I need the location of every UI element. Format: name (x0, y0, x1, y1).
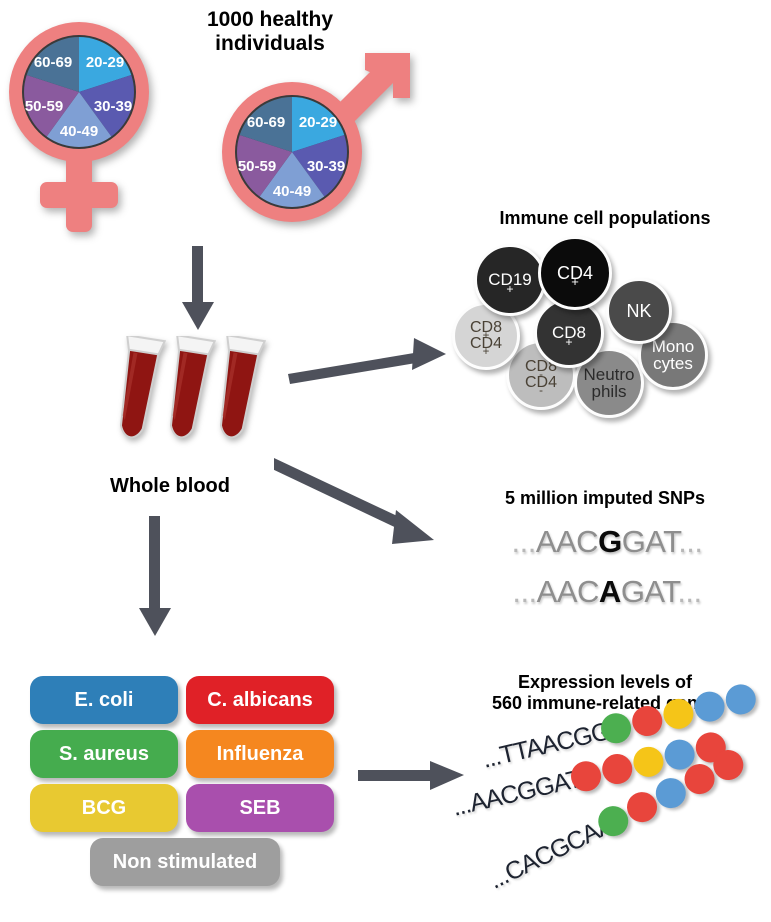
pie-label-30-39: 30-39 (307, 158, 345, 175)
pie-label-60-69: 60-69 (247, 114, 285, 131)
snp2-highlight: A (599, 574, 621, 609)
expression-bead-red (599, 751, 635, 787)
pie-label-50-59: 50-59 (25, 98, 63, 115)
immune-cell-cluster: CD19+CD4+NKCD8+CD8+CD4+CD8-CD4-Neutrophi… (450, 236, 760, 426)
stimulus-bcg[interactable]: BCG (30, 784, 178, 832)
snp-allele-row-1: ...AACGGAT... (452, 524, 762, 560)
female-symbol-with-age-pie: 20-29 30-39 40-49 50-59 60-69 (8, 14, 188, 244)
expression-strands: ...TTAACGG...AACGGAT...CACGCAA (455, 730, 771, 915)
whole-blood-label: Whole blood (60, 475, 280, 498)
stimulus-label: E. coli (75, 689, 134, 712)
arrow-blood-to-snps (274, 452, 450, 552)
expression-bead-blue (692, 689, 728, 725)
stimulus-c-albicans[interactable]: C. albicans (186, 676, 334, 724)
expression-sequence-text: ...AACGGAT (450, 765, 584, 823)
snp1-suffix: ... (678, 524, 702, 559)
immune-cell-label: CD8+ (552, 324, 586, 341)
immune-cell-label: CD8+CD4+ (470, 320, 502, 353)
immune-cell-cd19[interactable]: CD19+ (474, 244, 546, 316)
snp2-right: GAT (621, 574, 678, 609)
pie-label-30-39: 30-39 (94, 98, 132, 115)
stimuli-panel: E. coliC. albicansS. aureusInfluenzaBCGS… (30, 676, 350, 896)
immune-cell-label: Neutrophils (583, 366, 634, 401)
stimulus-label: Non stimulated (113, 851, 257, 874)
snp-allele-row-2: ...AACAGAT... (452, 574, 762, 610)
immune-populations-title: Immune cell populations (450, 208, 760, 229)
stimulus-influenza[interactable]: Influenza (186, 730, 334, 778)
whole-blood-tubes (108, 336, 268, 466)
immune-cell-nk[interactable]: NK (606, 278, 672, 344)
snp2-suffix: ... (677, 574, 701, 609)
snp1-prefix: ... (511, 524, 535, 559)
stimulus-label: BCG (82, 797, 126, 820)
pie-label-20-29: 20-29 (86, 54, 124, 71)
stimulus-seb[interactable]: SEB (186, 784, 334, 832)
pie-label-60-69: 60-69 (34, 54, 72, 71)
immune-cell-label: Monocytes (652, 338, 695, 373)
expression-bead-yellow (630, 744, 666, 780)
immune-cell-label: CD19+ (488, 271, 531, 288)
immune-cell-label: NK (626, 302, 651, 320)
arrow-blood-to-stimuli (135, 516, 181, 638)
diagram-canvas: 1000 healthy individuals 20-29 30-39 40-… (0, 0, 771, 922)
pie-label-40-49: 40-49 (60, 123, 98, 140)
arrow-blood-to-immune (288, 330, 448, 390)
stimulus-label: SEB (239, 797, 280, 820)
stimulus-label: S. aureus (59, 743, 149, 766)
expression-bead-blue (723, 681, 759, 717)
pie-label-40-49: 40-49 (273, 183, 311, 200)
male-symbol-with-age-pie: 20-29 30-39 40-49 50-59 60-69 (205, 48, 425, 238)
snp2-left: AAC (537, 574, 599, 609)
stimulus-e-coli[interactable]: E. coli (30, 676, 178, 724)
arrow-cohort-to-blood (176, 246, 220, 332)
snp1-highlight: G (598, 524, 622, 559)
stimulus-non-stimulated[interactable]: Non stimulated (90, 838, 280, 886)
stimulus-label: Influenza (217, 743, 304, 766)
snp-title: 5 million imputed SNPs (450, 488, 760, 509)
snp-sequences: ...AACGGAT... ...AACAGAT... (452, 524, 762, 620)
arrow-stimuli-to-expression (358, 756, 468, 796)
snp1-right: GAT (622, 524, 679, 559)
pie-label-20-29: 20-29 (299, 114, 337, 131)
pie-label-50-59: 50-59 (238, 158, 276, 175)
male-age-pie: 20-29 30-39 40-49 50-59 60-69 (235, 95, 349, 209)
expression-bead-red (629, 703, 665, 739)
snp1-left: AAC (536, 524, 598, 559)
expression-bead-yellow (660, 696, 696, 732)
female-age-pie: 20-29 30-39 40-49 50-59 60-69 (22, 35, 136, 149)
stimulus-s-aureus[interactable]: S. aureus (30, 730, 178, 778)
stimulus-label: C. albicans (207, 689, 313, 712)
immune-cell-label: CD4+ (557, 264, 593, 282)
snp2-prefix: ... (512, 574, 536, 609)
immune-cell-cd4[interactable]: CD4+ (538, 236, 612, 310)
